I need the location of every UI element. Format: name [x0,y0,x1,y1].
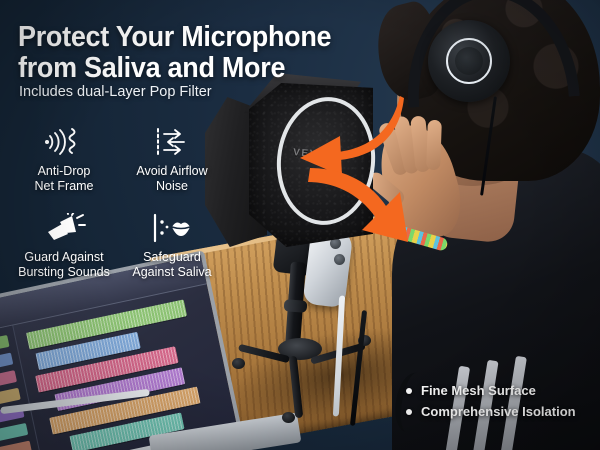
airflow-arrows-icon [118,122,226,162]
tripod-foot [232,358,245,369]
feature-list: Anti-Drop Net Frame Avoid Airflow Noise [10,122,226,294]
feature-label-line-1: Avoid Airflow [118,164,226,179]
bullet-label: Fine Mesh Surface [421,383,536,398]
feature-label-line-1: Guard Against [10,250,118,265]
arrow-to-shield-bottom-icon [308,162,418,248]
sound-wave-net-icon [10,122,118,162]
feature-label: Avoid Airflow Noise [118,164,226,195]
megaphone-burst-icon [10,208,118,248]
feature-label: Safeguard Against Saliva [118,250,226,281]
feature-label-line-2: Net Frame [10,179,118,194]
feature-label-line-2: Bursting Sounds [10,265,118,280]
bullet-dot-icon [406,409,412,415]
lips-droplet-icon [118,208,226,248]
benefit-bullet-list: Fine Mesh Surface Comprehensive Isolatio… [406,383,576,425]
tripod-collar [284,299,308,313]
subtitle: Includes dual-Layer Pop Filter [19,84,212,100]
arrow-to-shield-top-icon [296,92,406,172]
hand-finger [426,120,442,170]
feature-item-safeguard-against-saliva: Safeguard Against Saliva [118,208,226,294]
product-banner: VEVOR Protect Your Microphone from Saliv… [0,0,600,450]
headline-line-1: Protect Your Microphone [18,22,331,53]
feature-label-line-2: Against Saliva [118,265,226,280]
feature-label: Guard Against Bursting Sounds [10,250,118,281]
feature-label: Anti-Drop Net Frame [10,164,118,195]
list-item: Fine Mesh Surface [406,383,576,398]
feature-item-avoid-airflow-noise: Avoid Airflow Noise [118,122,226,208]
list-item: Comprehensive Isolation [406,404,576,419]
feature-item-guard-against-bursting-sounds: Guard Against Bursting Sounds [10,208,118,294]
bullet-label: Comprehensive Isolation [421,404,576,419]
feature-label-line-1: Safeguard [118,250,226,265]
page-title: Protect Your Microphone from Saliva and … [18,22,331,85]
bullet-dot-icon [406,388,412,394]
headphone-center [455,47,483,75]
mic-volume-knob [334,254,345,265]
feature-label-line-1: Anti-Drop [10,164,118,179]
headline-line-2: from Saliva and More [18,53,331,84]
tripod-foot [282,412,295,423]
feature-label-line-2: Noise [118,179,226,194]
feature-item-anti-drop-net-frame: Anti-Drop Net Frame [10,122,118,208]
